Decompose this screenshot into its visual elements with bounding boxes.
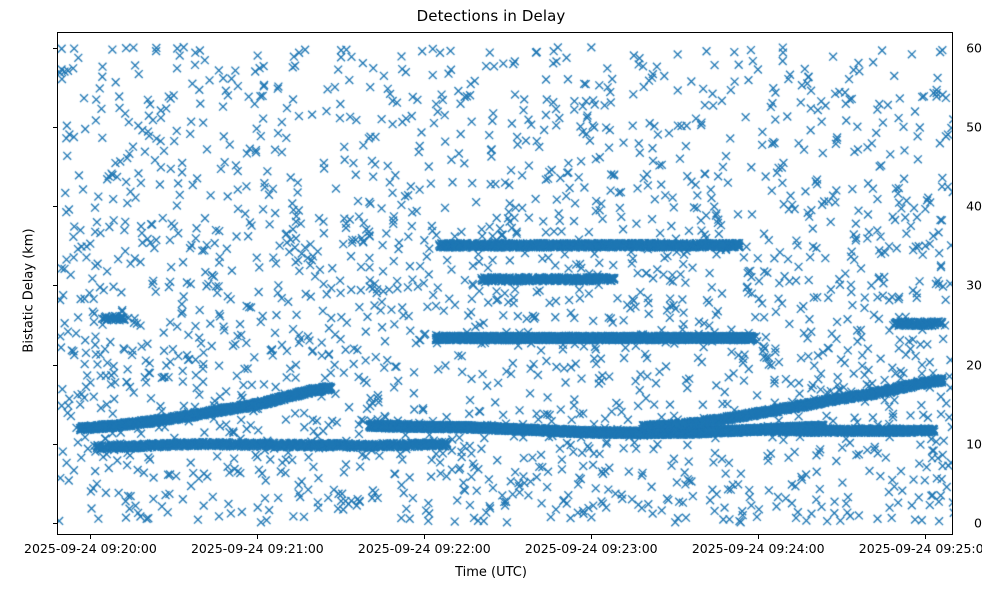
x-tick-mark xyxy=(925,535,926,539)
x-tick-mark xyxy=(591,535,592,539)
x-tick-label: 2025-09-24 09:20:00 xyxy=(24,541,157,556)
x-tick-label: 2025-09-24 09:21:00 xyxy=(191,541,324,556)
page-title: Detections in Delay xyxy=(0,7,982,25)
y-tick-label: 20 xyxy=(938,357,982,372)
x-tick-label: 2025-09-24 09:23:00 xyxy=(525,541,658,556)
y-tick-label: 40 xyxy=(938,199,982,214)
y-tick-mark xyxy=(53,365,57,366)
y-tick-mark xyxy=(53,444,57,445)
y-tick-label: 50 xyxy=(938,120,982,135)
scatter-plot-canvas xyxy=(58,33,953,535)
y-tick-mark xyxy=(53,523,57,524)
x-axis-label: Time (UTC) xyxy=(0,565,982,580)
y-tick-label: 10 xyxy=(938,436,982,451)
x-tick-mark xyxy=(90,535,91,539)
y-tick-mark xyxy=(53,285,57,286)
y-tick-mark xyxy=(53,48,57,49)
matplotlib-figure: Detections in Delay 0102030405060 2025-0… xyxy=(0,0,982,590)
x-tick-mark xyxy=(257,535,258,539)
y-tick-label: 30 xyxy=(938,278,982,293)
y-tick-mark xyxy=(53,127,57,128)
y-tick-label: 0 xyxy=(938,516,982,531)
y-tick-label: 60 xyxy=(938,40,982,55)
x-tick-label: 2025-09-24 09:25:00 xyxy=(859,541,982,556)
y-tick-mark xyxy=(53,206,57,207)
x-tick-mark xyxy=(424,535,425,539)
y-axis-label: Bistatic Delay (km) xyxy=(22,211,37,371)
x-tick-mark xyxy=(758,535,759,539)
x-tick-label: 2025-09-24 09:22:00 xyxy=(358,541,491,556)
x-tick-label: 2025-09-24 09:24:00 xyxy=(692,541,825,556)
plot-area xyxy=(57,32,953,535)
